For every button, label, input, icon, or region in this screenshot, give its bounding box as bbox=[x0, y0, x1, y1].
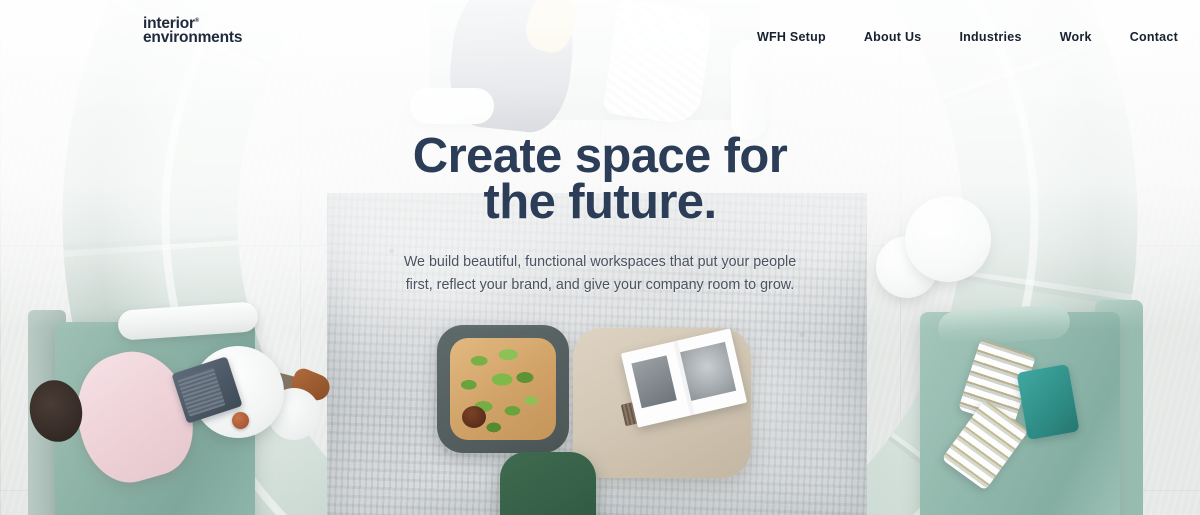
registered-trademark-icon: ® bbox=[195, 18, 199, 24]
hero-section: interior® environments WFH Setup About U… bbox=[0, 0, 1200, 515]
hero-headline-line-2: the future. bbox=[0, 179, 1200, 225]
brand-logo[interactable]: interior® environments bbox=[143, 17, 242, 46]
brand-logo-line-2: environments bbox=[143, 31, 242, 45]
nav-link-industries[interactable]: Industries bbox=[959, 26, 1021, 48]
site-header: interior® environments WFH Setup About U… bbox=[0, 0, 1200, 70]
nav-link-work[interactable]: Work bbox=[1060, 26, 1092, 48]
hero-headline-line-1: Create space for bbox=[0, 133, 1200, 179]
hero-headline: Create space for the future. bbox=[0, 133, 1200, 225]
hero-content-layer: interior® environments WFH Setup About U… bbox=[0, 0, 1200, 515]
hero-copy-block: Create space for the future. We build be… bbox=[0, 133, 1200, 297]
nav-link-contact[interactable]: Contact bbox=[1130, 26, 1178, 48]
hero-subcopy: We build beautiful, functional workspace… bbox=[395, 251, 805, 297]
main-navigation: WFH Setup About Us Industries Work Conta… bbox=[757, 26, 1178, 48]
nav-link-about-us[interactable]: About Us bbox=[864, 26, 922, 48]
nav-link-wfh-setup[interactable]: WFH Setup bbox=[757, 26, 826, 48]
